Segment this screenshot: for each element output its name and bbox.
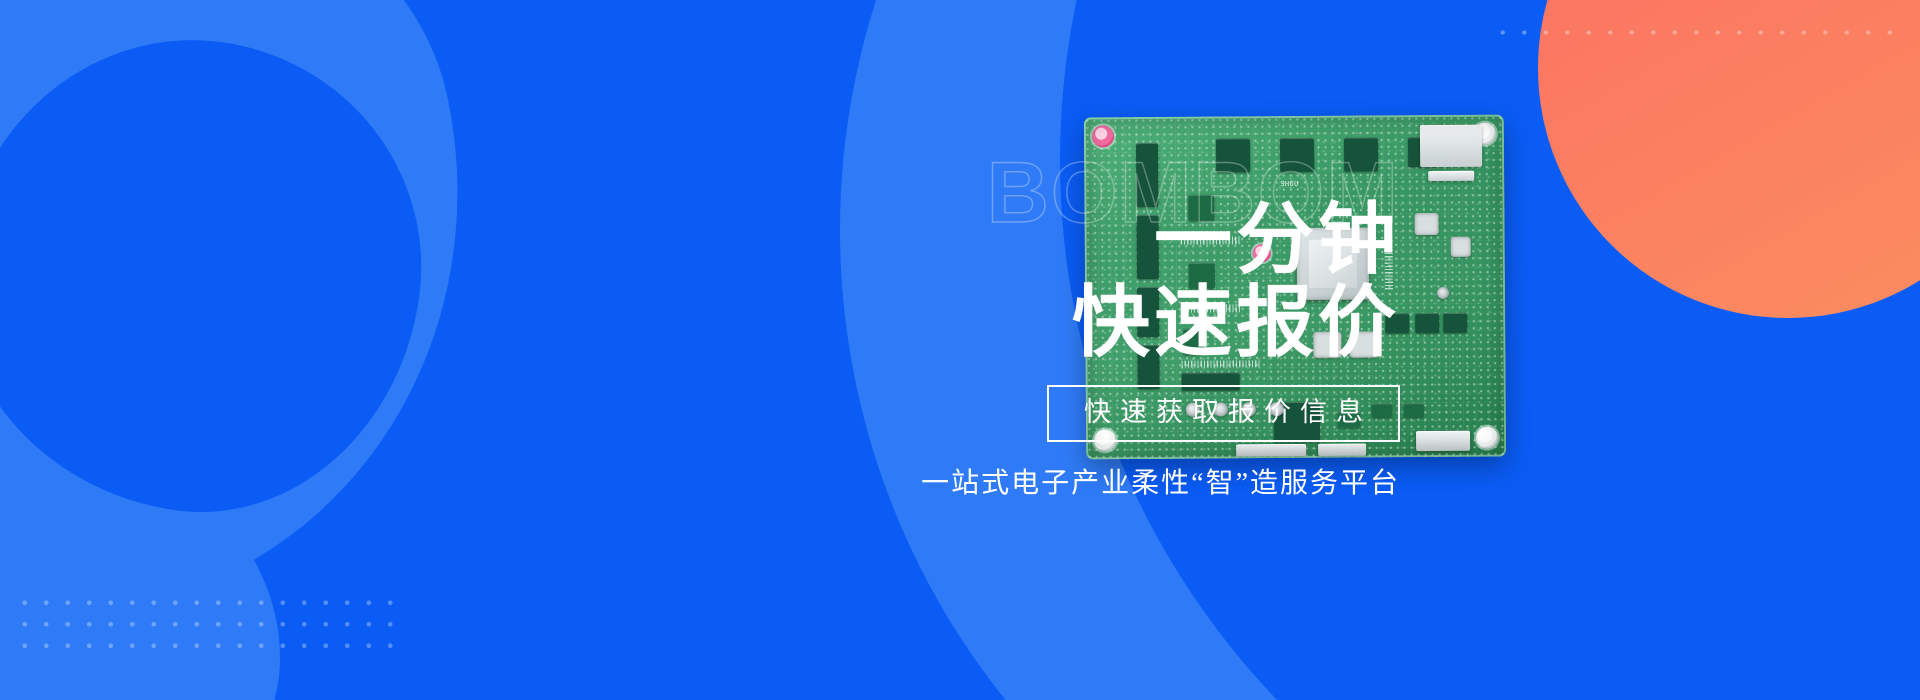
dot-grid-top-right [1492,22,1892,48]
headline-line-2: 快速报价 [840,281,1400,364]
boxed-subtitle: 快速获取报价信息 [1047,385,1400,441]
tagline: 一站式电子产业柔性“智”造服务平台 [840,461,1400,501]
banner-text-block: BOMBOM 一分钟 快速报价 快速获取报价信息 一站式电子产业柔性“智”造服务… [840,150,1400,501]
dot-grid-bottom-left [14,592,394,664]
promo-banner: SHOU BOMBOM 一分钟 快速报价 快速获取报价信息 一站式电子产业柔性“… [0,0,1920,700]
page-title: 一分钟 快速报价 [840,198,1400,363]
headline-line-1: 一分钟 [840,198,1400,281]
